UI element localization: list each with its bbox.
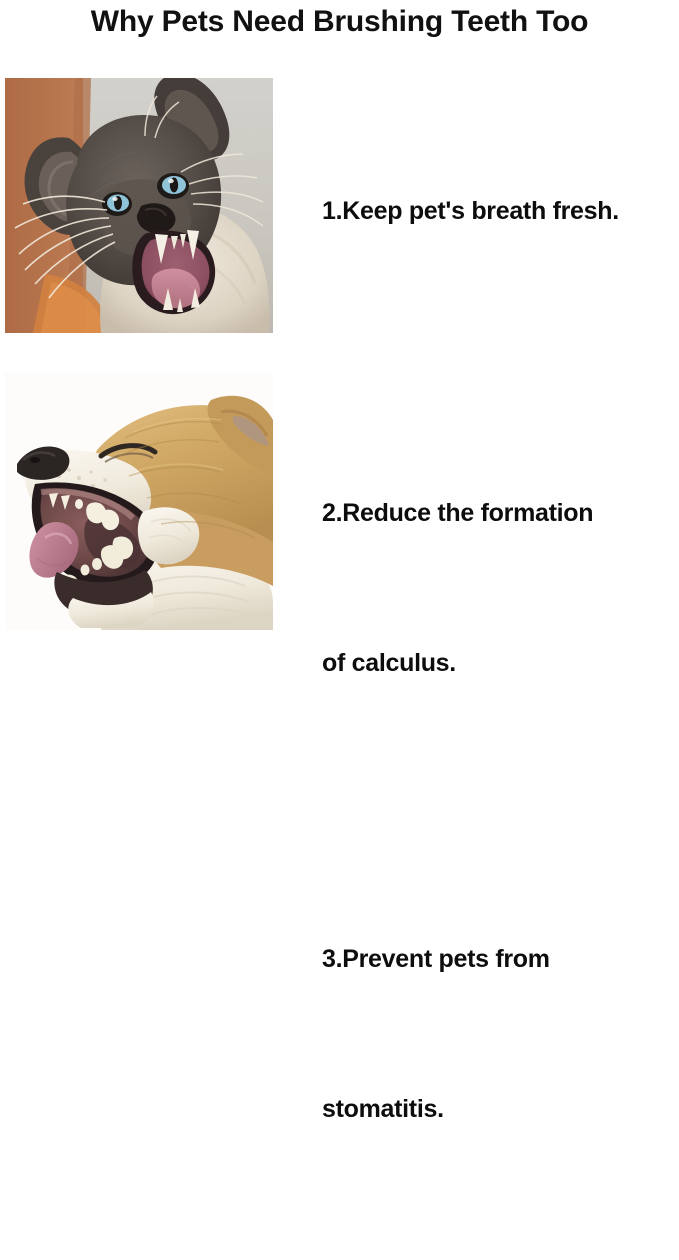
- cat-illustration: [5, 78, 273, 333]
- list-item-2: 2.Reduce the formation of calculus.: [322, 388, 679, 788]
- list-item-2-line-1: 2.Reduce the formation: [322, 488, 679, 538]
- benefits-list: 1.Keep pet's breath fresh. 2.Reduce the …: [322, 86, 679, 1260]
- cat-eye-left: [102, 192, 132, 216]
- list-item-2-line-2: of calculus.: [322, 638, 679, 688]
- list-item-3-line-1: 3.Prevent pets from: [322, 934, 679, 984]
- dog-illustration: [5, 372, 273, 630]
- list-item-3-line-2: stomatitis.: [322, 1084, 679, 1134]
- page-title: Why Pets Need Brushing Teeth Too: [0, 2, 679, 42]
- dog-yawning-photo: [5, 372, 273, 630]
- list-item-3: 3.Prevent pets from stomatitis.: [322, 834, 679, 1234]
- cat-yawning-photo: [5, 78, 273, 333]
- cat-eye-right: [157, 173, 189, 199]
- list-item-1-line-1: 1.Keep pet's breath fresh.: [322, 186, 679, 236]
- list-item-1: 1.Keep pet's breath fresh.: [322, 86, 679, 336]
